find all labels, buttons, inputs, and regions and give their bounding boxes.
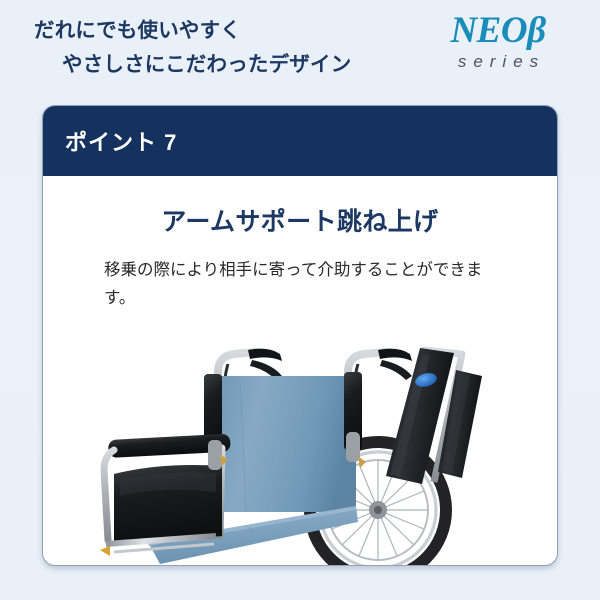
point-label: ポイント 7 xyxy=(65,125,177,157)
tagline-line-2: やさしさにこだわったデザイン xyxy=(34,48,434,82)
brand-logo: NEOβ series xyxy=(428,12,568,73)
page-header: だれにでも使いやすく やさしさにこだわったデザイン NEOβ series xyxy=(0,0,600,100)
card-body: アームサポート跳ね上げ 移乗の際により相手に寄って介助することができます。 xyxy=(43,202,557,566)
brand-name-text: NEOβ xyxy=(428,12,568,50)
feature-card: ポイント 7 アームサポート跳ね上げ 移乗の際により相手に寄って介助することがで… xyxy=(42,105,558,566)
header-tagline: だれにでも使いやすく やさしさにこだわったデザイン xyxy=(34,14,434,82)
brand-series-text: series xyxy=(428,51,568,73)
wheelchair-photo xyxy=(43,314,557,566)
tagline-line-1: だれにでも使いやすく xyxy=(34,14,434,48)
feature-title: アームサポート跳ね上げ xyxy=(43,202,557,238)
feature-description: 移乗の際により相手に寄って介助することができます。 xyxy=(104,256,496,312)
page-root: だれにでも使いやすく やさしさにこだわったデザイン NEOβ series ポイ… xyxy=(0,0,600,600)
card-header-bar: ポイント 7 xyxy=(43,106,557,176)
wheelchair-illustration xyxy=(90,314,510,566)
